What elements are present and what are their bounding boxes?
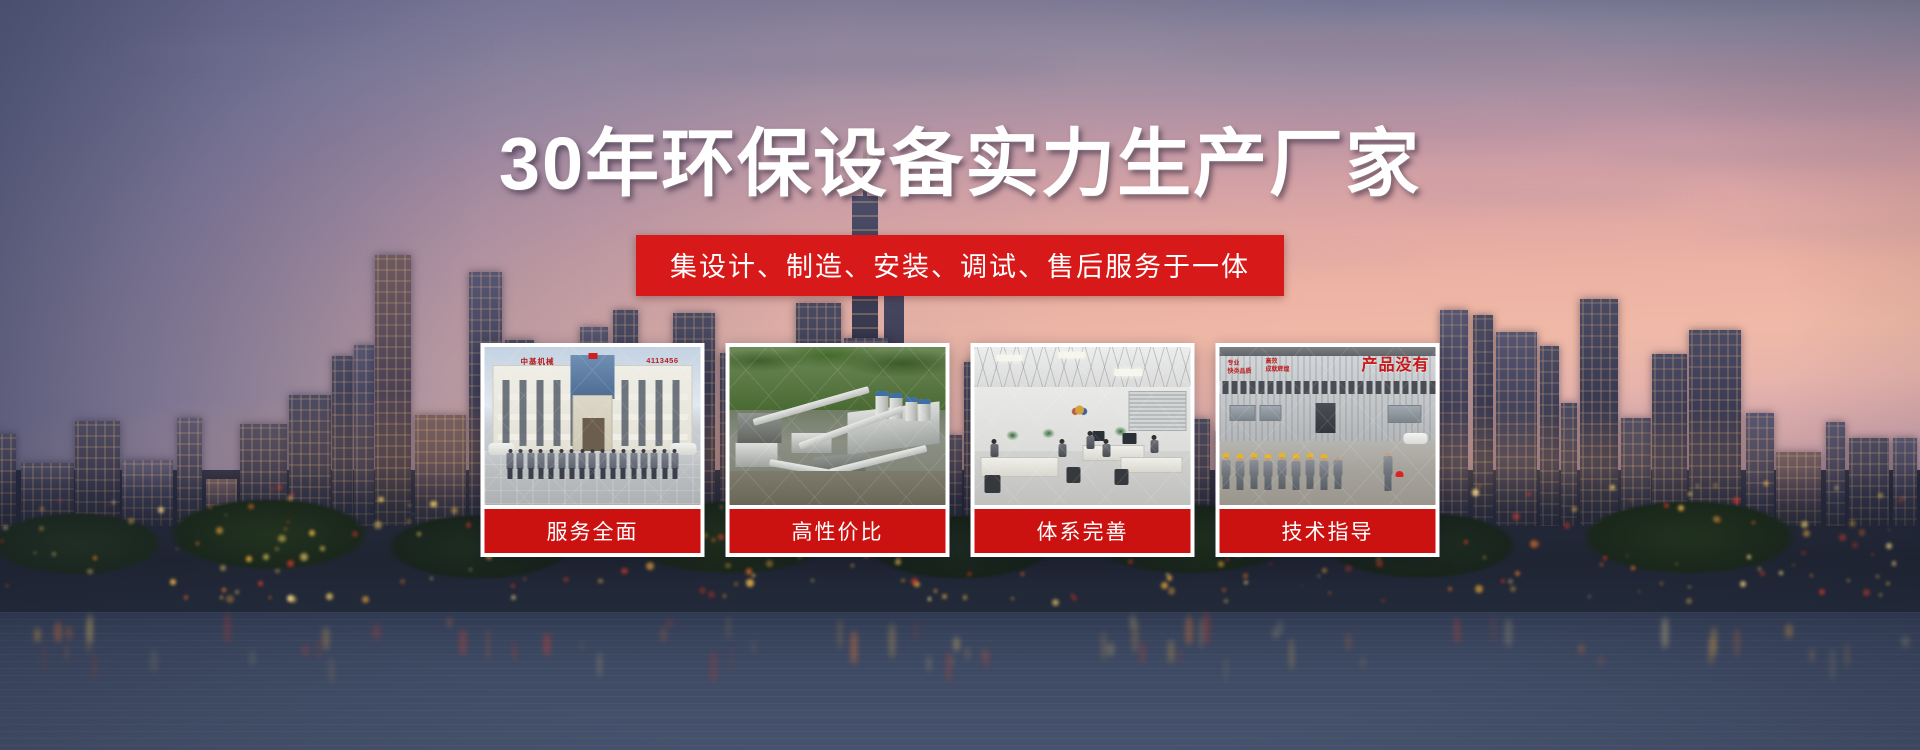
photo-staff-member: [651, 449, 658, 479]
photo-red-helmet-icon: [1396, 471, 1404, 477]
photo-staff-member: [671, 449, 678, 479]
production-plant-aerial-photo: [730, 347, 946, 505]
photo-window: [1388, 405, 1422, 423]
photo-staff-member: [589, 449, 596, 479]
photo-staff-member: [548, 449, 555, 479]
photo-window: [1260, 405, 1282, 421]
photo-supervisor: [1384, 449, 1393, 491]
photo-factory-slogan-right: 高效成就辉煌: [1266, 359, 1290, 374]
office-interior-photo: [975, 347, 1191, 505]
photo-ceiling-light: [1059, 352, 1085, 358]
feature-card[interactable]: 产品没有 专业快类品质 高效成就辉煌 技术指导: [1216, 343, 1440, 557]
photo-silo: [919, 399, 931, 421]
photo-factory-slogan-left: 专业快类品质: [1228, 361, 1252, 376]
photo-yard: [730, 471, 946, 505]
photo-phone-number-text: 4113456: [646, 356, 678, 365]
photo-chair: [1067, 467, 1081, 483]
photo-worker: [1292, 454, 1301, 490]
photo-worker: [1320, 454, 1329, 490]
photo-worker: [1306, 453, 1315, 489]
photo-building-entrance: [573, 395, 613, 451]
photo-plant-decor: [1113, 423, 1129, 437]
photo-ceiling-light: [1115, 369, 1143, 376]
photo-staff-member: [640, 449, 647, 479]
photo-factory-window-band: [1220, 381, 1436, 394]
feature-card-label: 高性价比: [730, 509, 946, 553]
photo-staff-member: [599, 449, 606, 479]
photo-company-sign-text: 中基机械: [521, 356, 555, 367]
photo-staff-row: [507, 445, 681, 479]
photo-car: [1404, 433, 1428, 444]
photo-window: [1230, 405, 1256, 421]
photo-desk: [981, 457, 1059, 477]
photo-staff-member: [507, 449, 514, 479]
subtitle-banner: 集设计、制造、安装、调试、售后服务于一体: [636, 235, 1284, 296]
photo-staff-member: [620, 449, 627, 479]
workshop-team-photo: 产品没有 专业快类品质 高效成就辉煌: [1220, 347, 1436, 505]
company-headquarters-photo: 中基机械 4113456: [485, 347, 701, 505]
photo-staff-member: [517, 449, 524, 479]
feature-card-label: 技术指导: [1220, 509, 1436, 553]
photo-plant-decor: [1041, 425, 1057, 439]
photo-building-glass-facade: [571, 355, 615, 399]
photo-staff-member: [568, 449, 575, 479]
feature-card-label: 体系完善: [975, 509, 1191, 553]
photo-flag-icon: [589, 353, 598, 359]
photo-worker: [1250, 453, 1259, 489]
photo-worker: [1334, 453, 1343, 489]
photo-staff-member: [610, 449, 617, 479]
photo-factory-sign-text: 产品没有: [1361, 351, 1429, 375]
photo-worker: [1222, 453, 1231, 489]
photo-worker: [1236, 454, 1245, 490]
photo-employee: [1103, 439, 1111, 457]
feature-card[interactable]: 中基机械 4113456 服务全面: [481, 343, 705, 557]
photo-plant-decor: [1005, 427, 1021, 441]
page-title: 30年环保设备实力生产厂家: [0, 104, 1920, 211]
photo-employee: [1087, 431, 1095, 449]
photo-window-blinds: [1129, 391, 1187, 431]
photo-staff-member: [579, 449, 586, 479]
photo-staff-member: [630, 449, 637, 479]
photo-staff-member: [527, 449, 534, 479]
photo-employee: [1059, 439, 1067, 457]
feature-card[interactable]: 高性价比: [726, 343, 950, 557]
photo-silo: [906, 397, 918, 421]
photo-staff-member: [661, 449, 668, 479]
photo-employee: [991, 439, 999, 457]
photo-wall-decal: [1067, 399, 1093, 419]
photo-factory-door: [1316, 403, 1336, 433]
photo-ceiling-light: [997, 355, 1023, 361]
photo-staff-member: [558, 449, 565, 479]
photo-worker: [1264, 454, 1273, 490]
feature-card[interactable]: 体系完善: [971, 343, 1195, 557]
photo-chair: [985, 475, 1001, 493]
photo-employee: [1151, 435, 1159, 453]
hero-content: 30年环保设备实力生产厂家 集设计、制造、安装、调试、售后服务于一体 中基机械 …: [0, 0, 1920, 750]
feature-card-label: 服务全面: [485, 509, 701, 553]
photo-chair: [1115, 469, 1129, 485]
photo-staff-member: [537, 449, 544, 479]
photo-desk: [1121, 457, 1183, 473]
photo-worker: [1278, 453, 1287, 489]
feature-card-list: 中基机械 4113456 服务全面: [481, 343, 1440, 557]
